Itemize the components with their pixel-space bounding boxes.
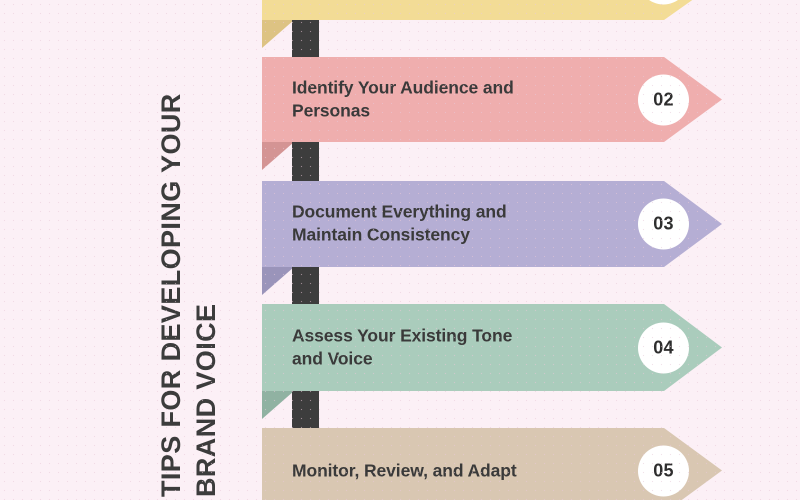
step-row-04[interactable]: Assess Your Existing Tone and Voice04 xyxy=(262,304,722,391)
step-row-01[interactable]: 01 xyxy=(262,0,722,20)
step-number-02: 02 xyxy=(653,89,673,110)
step-connector-3 xyxy=(292,267,319,304)
step-fold-shadow-02 xyxy=(262,142,294,170)
step-row-05[interactable]: Monitor, Review, and Adapt05 xyxy=(262,428,722,500)
step-connector-4 xyxy=(292,391,319,428)
step-number-05: 05 xyxy=(653,460,673,481)
step-number-badge-03: 03 xyxy=(638,199,689,250)
step-arrow-01 xyxy=(262,0,722,20)
step-label-05: Monitor, Review, and Adapt xyxy=(292,459,642,482)
step-number-badge-05: 05 xyxy=(638,445,689,496)
step-number-badge-02: 02 xyxy=(638,74,689,125)
step-fold-shadow-01 xyxy=(262,20,294,48)
infographic-canvas: TIPS FOR DEVELOPING YOUR BRAND VOICE 01I… xyxy=(0,0,800,500)
step-label-04: Assess Your Existing Tone and Voice xyxy=(292,324,642,371)
step-label-03: Document Everything and Maintain Consist… xyxy=(292,201,642,248)
step-number-04: 04 xyxy=(653,337,673,358)
title-area: TIPS FOR DEVELOPING YOUR BRAND VOICE xyxy=(0,0,255,500)
step-number-badge-04: 04 xyxy=(638,322,689,373)
step-row-03[interactable]: Document Everything and Maintain Consist… xyxy=(262,181,722,267)
step-fold-shadow-03 xyxy=(262,267,294,295)
page-title-line-1: TIPS FOR DEVELOPING YOUR xyxy=(158,93,185,497)
step-connector-2 xyxy=(292,142,319,181)
step-row-02[interactable]: Identify Your Audience and Personas02 xyxy=(262,57,722,142)
step-label-02: Identify Your Audience and Personas xyxy=(292,76,642,123)
step-fold-shadow-04 xyxy=(262,391,294,419)
step-connector-1 xyxy=(292,20,319,57)
page-title-line-2: BRAND VOICE xyxy=(193,304,220,497)
step-number-03: 03 xyxy=(653,214,673,235)
